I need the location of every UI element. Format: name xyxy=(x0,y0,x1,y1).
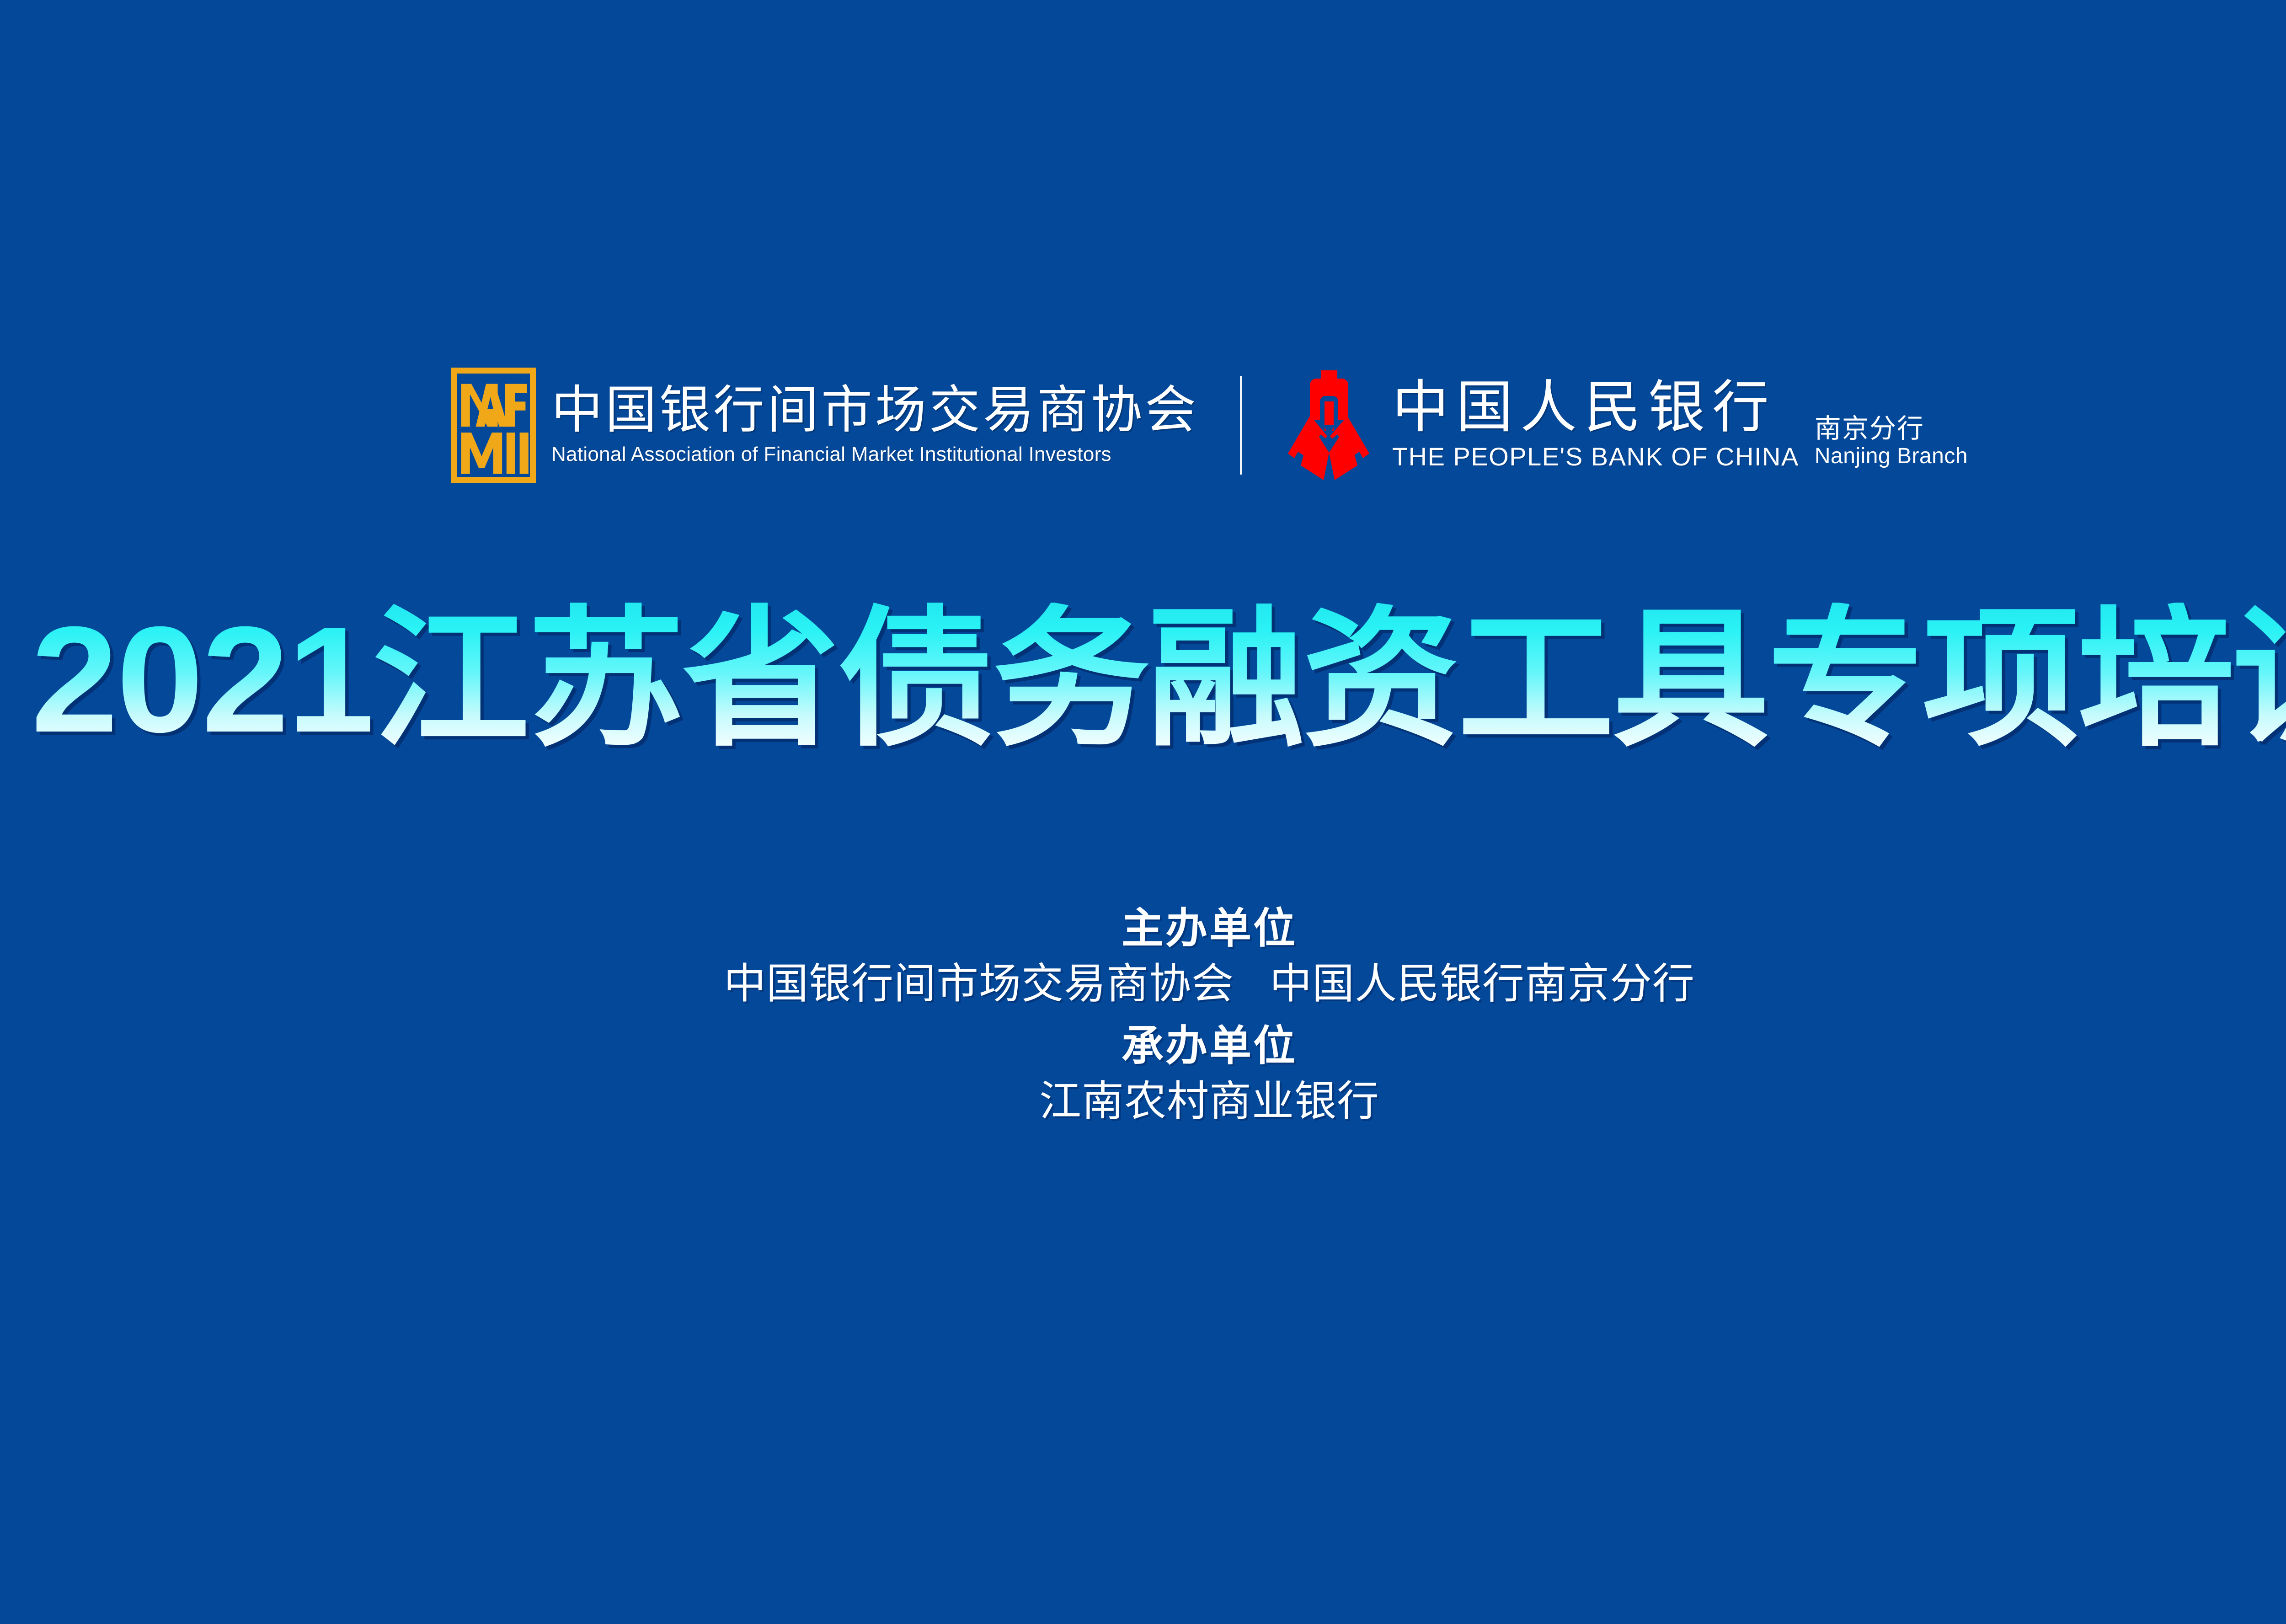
pboc-branch-block: 南京分行 Nanjing Branch xyxy=(1815,414,1968,482)
pboc-logo-icon xyxy=(1283,369,1375,482)
nafmii-name-block: 中国银行间市场交易商协会 National Association of Fin… xyxy=(551,384,1199,466)
host-org-1: 中国银行间市场交易商协会 xyxy=(724,961,1234,1007)
organizer-spacer xyxy=(0,1014,2286,1020)
nafmii-logo-group: 中国银行间市场交易商协会 National Association of Fin… xyxy=(451,368,1199,483)
nafmii-name-cn: 中国银行间市场交易商协会 xyxy=(551,384,1199,437)
organizer-organizations: 江南农村商业银行 xyxy=(0,1072,2286,1132)
organizer-org-1: 江南农村商业银行 xyxy=(1039,1078,1379,1125)
nafmii-logo-icon xyxy=(451,368,536,483)
page-title: 2021江苏省债务融资工具专项培训 xyxy=(0,603,2286,757)
pboc-name-cn: 中国人民银行 xyxy=(1392,379,1799,436)
host-organizations: 中国银行间市场交易商协会中国人民银行南京分行 xyxy=(0,954,2286,1014)
host-org-2: 中国人民银行南京分行 xyxy=(1270,961,1695,1007)
pboc-name-block: 中国人民银行 THE PEOPLE'S BANK OF CHINA xyxy=(1392,379,1799,471)
organizer-label: 承办单位 xyxy=(0,1020,2286,1072)
pboc-name-en: THE PEOPLE'S BANK OF CHINA xyxy=(1392,442,1799,471)
pboc-branch-en: Nanjing Branch xyxy=(1815,444,1968,469)
logo-divider xyxy=(1240,376,1242,475)
nafmii-name-en: National Association of Financial Market… xyxy=(551,442,1199,467)
organizer-block: 主办单位 中国银行间市场交易商协会中国人民银行南京分行 承办单位 江南农村商业银… xyxy=(0,903,2286,1132)
host-label: 主办单位 xyxy=(0,903,2286,954)
pboc-branch-cn: 南京分行 xyxy=(1815,414,1968,444)
logo-row: 中国银行间市场交易商协会 National Association of Fin… xyxy=(0,352,2286,498)
pboc-logo-group: 中国人民银行 THE PEOPLE'S BANK OF CHINA 南京分行 N… xyxy=(1283,369,1968,482)
